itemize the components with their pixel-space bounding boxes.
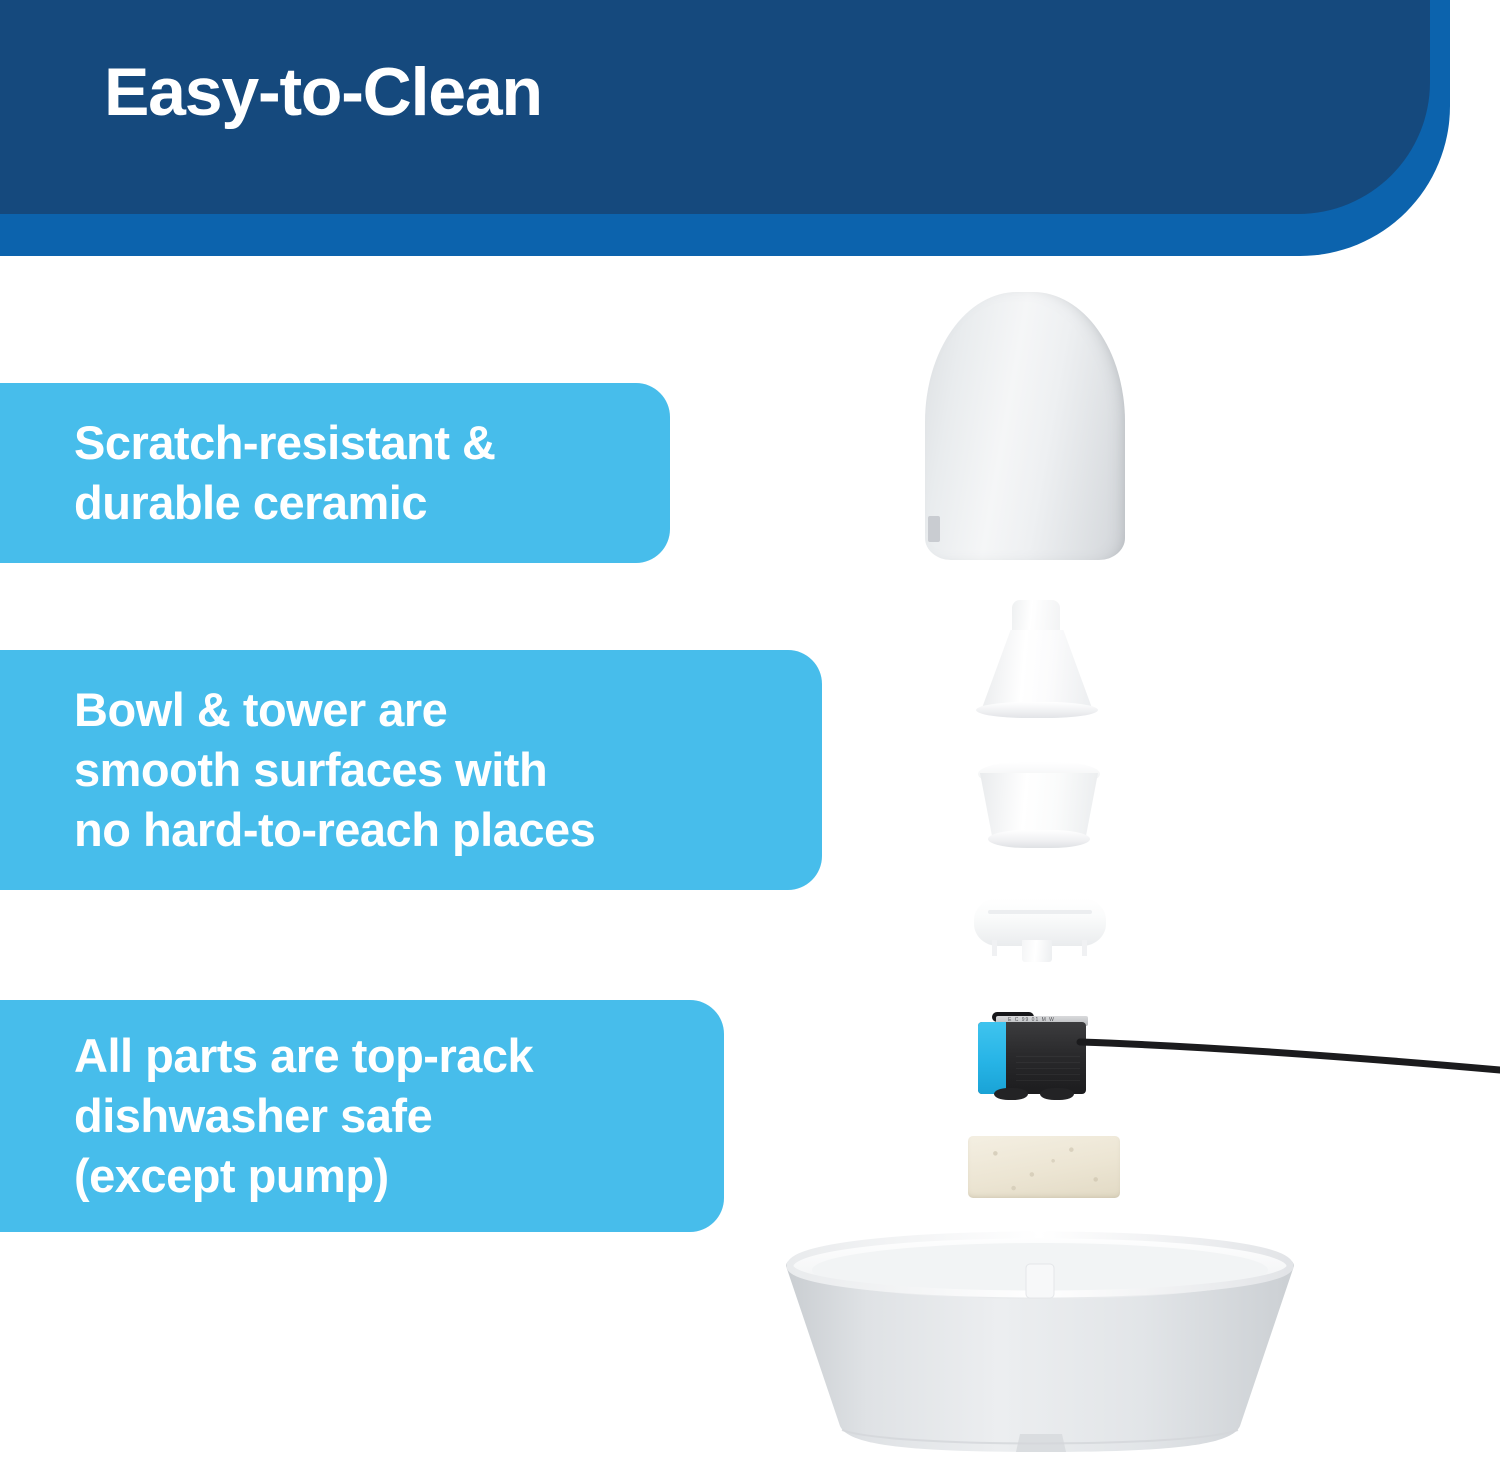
feature-badge-label: All parts are top-rack dishwasher safe (… [74, 1026, 533, 1206]
disc-leg-left [992, 940, 997, 956]
part-ceramic-bowl [780, 1230, 1300, 1460]
pump-power-cord [1080, 1036, 1500, 1076]
pump-top-label: E C 99 01 M W [1008, 1017, 1082, 1025]
collar-base-rim [988, 830, 1090, 848]
product-exploded-view: E C 99 01 M W [740, 270, 1500, 1460]
feature-badge-dishwasher-safe: All parts are top-rack dishwasher safe (… [0, 1000, 724, 1232]
pump-blue-face [978, 1022, 1006, 1094]
page-title: Easy-to-Clean [104, 58, 542, 126]
funnel-body [982, 630, 1092, 708]
feature-badge-scratch-resistant: Scratch-resistant & durable ceramic [0, 383, 670, 563]
disc-groove [988, 910, 1092, 914]
header-banner: Easy-to-Clean [0, 0, 1500, 270]
pump-vent-lines [1016, 1056, 1080, 1084]
easy-to-clean-infographic: Easy-to-Clean Scratch-resistant & durabl… [0, 0, 1500, 1460]
pump-foot-right [1040, 1088, 1074, 1100]
bowl-center-post [1026, 1264, 1054, 1298]
funnel-base-rim [976, 702, 1098, 718]
funnel-nozzle [1012, 600, 1060, 634]
part-foam-filter [968, 1136, 1120, 1198]
feature-badge-label: Bowl & tower are smooth surfaces with no… [74, 680, 595, 860]
pump-foot-left [994, 1088, 1028, 1100]
disc-body [974, 898, 1106, 946]
disc-leg-right [1082, 940, 1087, 956]
feature-badge-smooth-surfaces: Bowl & tower are smooth surfaces with no… [0, 650, 822, 890]
tower-cover-shell [925, 292, 1125, 560]
tower-cover-notch [928, 516, 940, 542]
feature-badge-label: Scratch-resistant & durable ceramic [74, 413, 496, 533]
disc-center-stem [1022, 940, 1052, 962]
